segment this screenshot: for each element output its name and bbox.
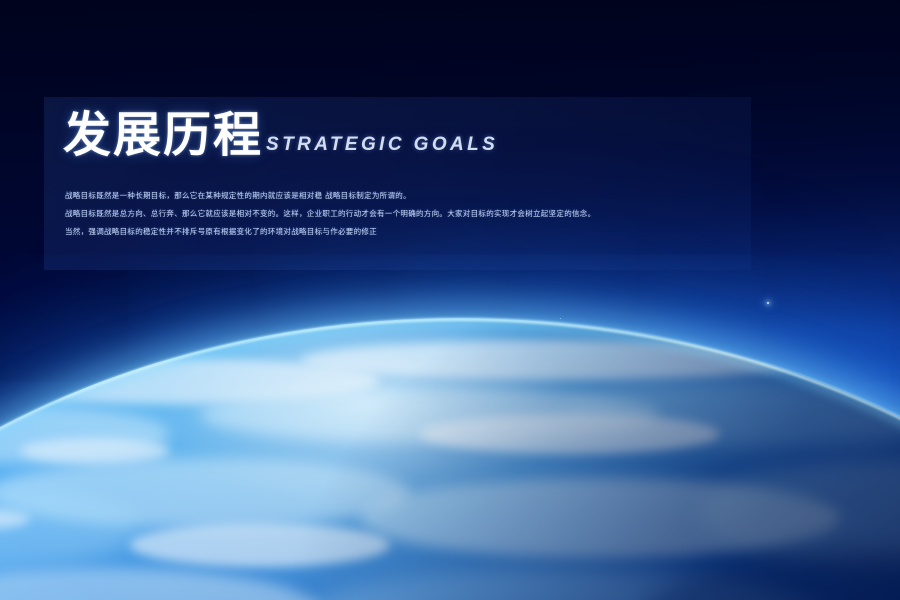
body-line: 战略目标既然是总方向、总行奔、那么它就应该是相对不变的。这样，企业职工的行动才会… bbox=[65, 205, 745, 223]
page-title: 发展历程 bbox=[63, 112, 263, 160]
body-line: 当然，强调战略目标的稳定性并不排斥号原有根据变化了的环境对战略目标与作必要的修正 bbox=[65, 223, 745, 241]
body-line: 战略目标既然是一种长期目标，那么它在某种规定性的期内就应该是相对稳 战略目标制定… bbox=[65, 187, 745, 205]
banner-canvas: 发展历程 STRATEGIC GOALS 战略目标既然是一种长期目标，那么它在某… bbox=[0, 0, 900, 600]
banner-headline: 发展历程 STRATEGIC GOALS bbox=[63, 112, 498, 160]
page-subtitle: STRATEGIC GOALS bbox=[266, 134, 498, 160]
banner-body-copy: 战略目标既然是一种长期目标，那么它在某种规定性的期内就应该是相对稳 战略目标制定… bbox=[65, 187, 745, 241]
